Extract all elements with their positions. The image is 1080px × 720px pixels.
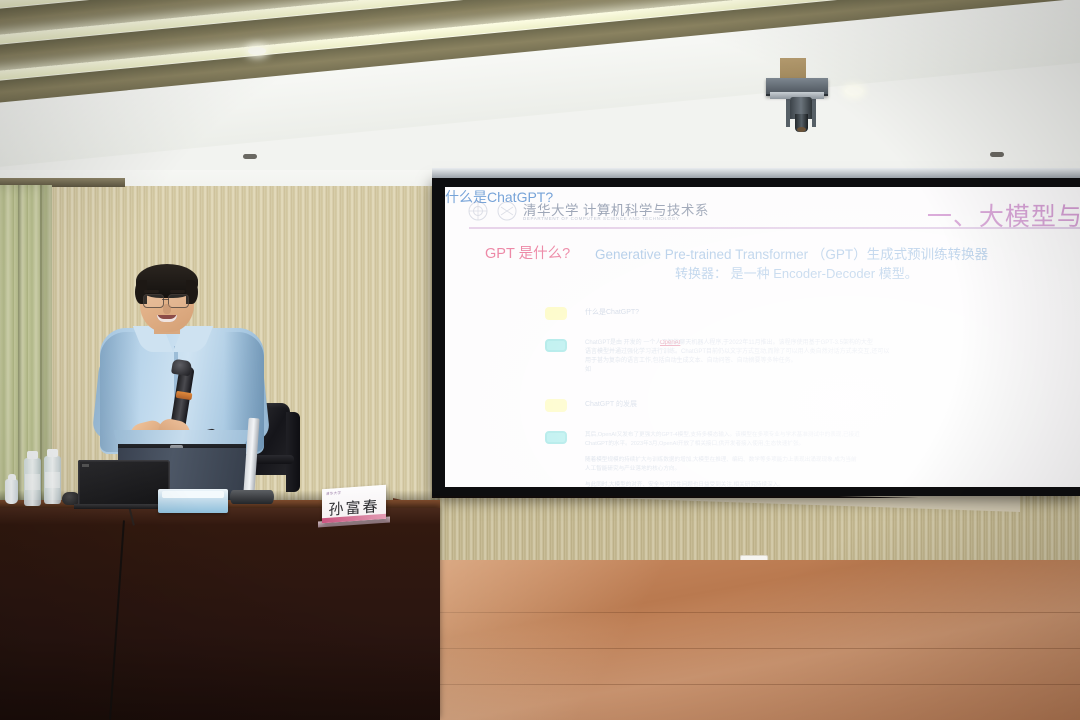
- ceiling-speaker-grille: [990, 152, 1004, 157]
- bullet-2-line-2: 语言模型并通过强化学习进行训练。ChatGPT目前仍以文字方式互动,而除了可以用…: [585, 348, 889, 357]
- bullet-marker-cyan-2: [545, 431, 567, 444]
- bullet-marker-yellow-2: [545, 399, 567, 412]
- water-bottle[interactable]: [24, 458, 41, 506]
- microphone-head-icon: [171, 359, 192, 377]
- ceiling-downlight: [845, 87, 863, 95]
- projection-screen: 清华大学 计算机科学与技术系 DEPARTMENT OF COMPUTER SC…: [445, 187, 1080, 487]
- tissue-box[interactable]: [158, 489, 228, 513]
- bullet-4-line-3: 随着模型规模的持续扩大与训练数据的增加,大模型在推理、编码、数学等多项能力上表现…: [585, 456, 857, 464]
- slide-question-1: GPT 是什么?: [485, 242, 570, 263]
- projector-lens-icon: [795, 114, 808, 132]
- bullet-2-line-3: 用于甚为复杂的语言工作,包括自动生成文本、自动问答、自动摘要等多种任务。: [585, 357, 797, 366]
- slide-header: 清华大学 计算机科学与技术系 DEPARTMENT OF COMPUTER SC…: [445, 195, 1080, 231]
- speaker-eyebrow-right: [170, 290, 185, 293]
- laptop-logo: [82, 464, 89, 467]
- slide-answer-1: Generative Pre-trained Transformer （GPT）…: [595, 243, 988, 263]
- speaker-eyebrow-left: [144, 290, 159, 293]
- laptop[interactable]: [78, 460, 170, 506]
- projector-arm-right: [812, 97, 816, 127]
- speaker-nose: [163, 304, 171, 314]
- bullet-4-line-2: ChatGPT的水平。2023年3月,OpenAI开放了相关接口,供开发者接入使…: [585, 440, 804, 448]
- bullet-4-line-4: 人工智能研究与产业落地的核心方向。: [585, 465, 680, 473]
- slide-org-subname: DEPARTMENT OF COMPUTER SCIENCE AND TECHN…: [523, 216, 679, 221]
- slide-answer-2: 转换器： 是一种 Encoder-Decoder 模型。: [675, 263, 918, 282]
- bullet-marker-yellow: [545, 307, 567, 320]
- water-bottle[interactable]: [44, 456, 61, 504]
- wall-panel-right: [432, 492, 1080, 564]
- bullet-1-head: 什么是ChatGPT?: [585, 309, 639, 318]
- eyeglasses-bridge: [162, 299, 169, 300]
- name-plate-org: 清华大学: [326, 491, 341, 497]
- bullet-2-link[interactable]: OpenAI: [660, 339, 680, 348]
- eyeglasses-icon-left: [143, 294, 164, 308]
- ceiling-downlight: [248, 47, 266, 55]
- paper-cup[interactable]: [5, 479, 18, 504]
- bullet-3-head: ChatGPT 的发展: [585, 401, 637, 410]
- eyeglasses-icon-right: [168, 294, 189, 308]
- bullet-marker-cyan: [545, 339, 567, 352]
- bullet-4-line-5: 与此同时,大模型的对齐、安全与可控性问题也日益受到关注,相关研究持续深入。: [585, 481, 784, 487]
- office-chair-side: [286, 412, 300, 492]
- name-plate: 清华大学 孙富春: [322, 485, 386, 523]
- ceiling-speaker-grille: [243, 154, 257, 159]
- slide-header-rule: [469, 227, 1080, 229]
- projection-screen-frame: 清华大学 计算机科学与技术系 DEPARTMENT OF COMPUTER SC…: [432, 178, 1080, 496]
- bullet-4-line-1: 其后,OpenAI又发布了更强大的GPT-4模型,支持多模态输入。该模型在多项专…: [585, 431, 860, 439]
- desk-microphone-base: [230, 490, 274, 504]
- bullet-2-line-4: 如: [585, 366, 591, 375]
- presentation-slide: 清华大学 计算机科学与技术系 DEPARTMENT OF COMPUTER SC…: [445, 187, 1080, 487]
- lecture-hall-photo: 清华大学 计算机科学与技术系 DEPARTMENT OF COMPUTER SC…: [0, 0, 1080, 720]
- floor-reflection: [430, 560, 680, 720]
- podium: [0, 508, 440, 720]
- bullet-2-line-1: ChatGPT是由 开发的 一个人工智能聊天机器人程序,于2022年11月推出。…: [585, 339, 873, 348]
